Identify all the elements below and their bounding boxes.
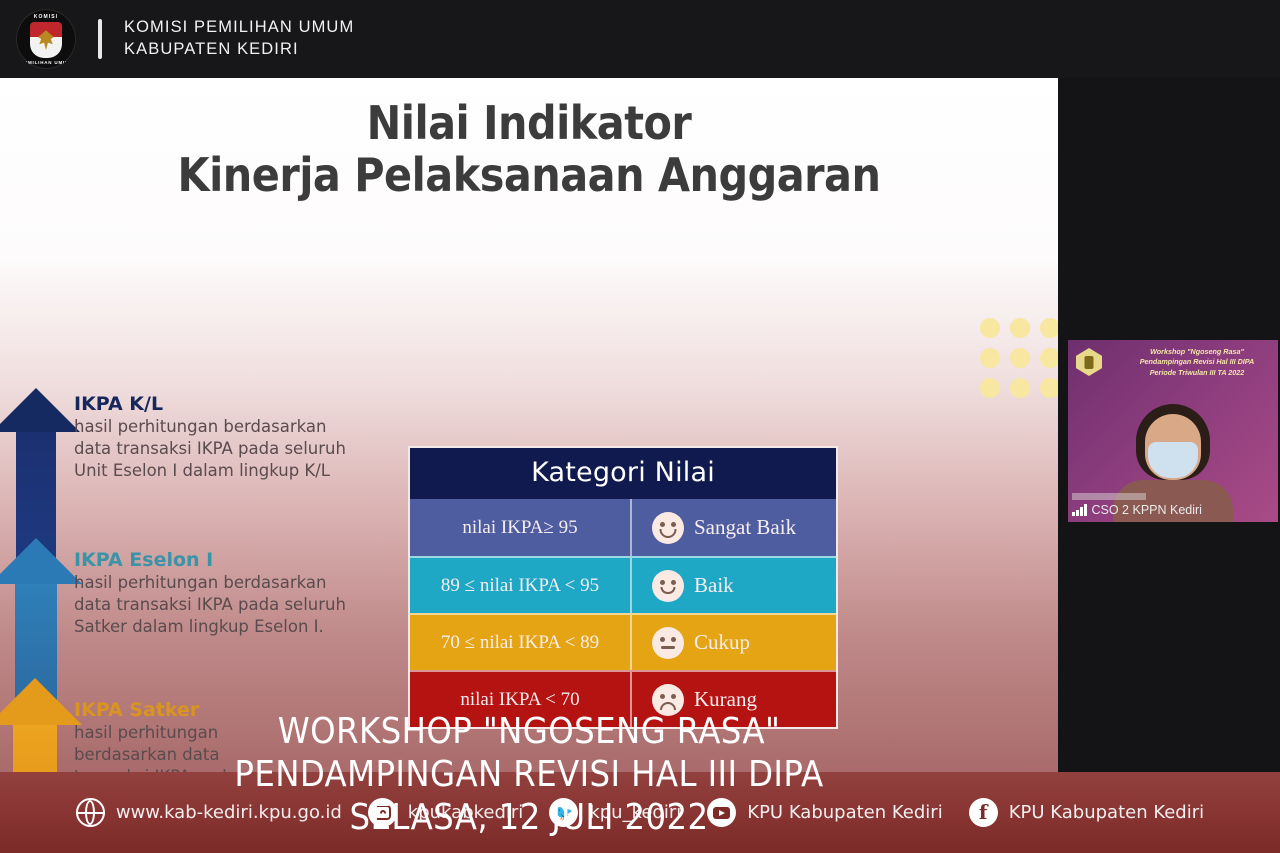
dot <box>980 348 1000 368</box>
dot <box>1010 318 1030 338</box>
video-name-strip <box>1072 493 1146 500</box>
table-cell-label: Cukup <box>694 630 750 655</box>
dot <box>1010 348 1030 368</box>
dot <box>1040 348 1058 368</box>
caption-overlay: WORKSHOP "NGOSENG RASA" PENDAMPINGAN REV… <box>0 710 1058 840</box>
table-cell-label: Baik <box>694 573 734 598</box>
block-body: hasil perhitungan berdasarkan data trans… <box>74 416 364 482</box>
block-heading: IKPA K/L <box>74 394 364 415</box>
slide-title-line1: Nilai Indikator <box>0 98 1058 150</box>
block-body: hasil perhitungan berdasarkan data trans… <box>74 572 364 638</box>
caption-line1: WORKSHOP "NGOSENG RASA" <box>0 710 1058 753</box>
header-title: KOMISI PEMILIHAN UMUM KABUPATEN KEDIRI <box>124 17 354 61</box>
table-header: Kategori Nilai <box>410 448 836 499</box>
block-heading: IKPA Eselon I <box>74 550 364 571</box>
kpu-logo: KOMISI PEMILIHAN UMUM <box>16 9 76 69</box>
table-cell-label-wrap: Sangat Baik <box>632 499 836 556</box>
dot <box>1040 378 1058 398</box>
kpu-logo-shield <box>30 22 62 58</box>
participant-name: CSO 2 KPPN Kediri <box>1092 503 1202 517</box>
arrow-head-icon <box>0 538 82 584</box>
app-header: KOMISI PEMILIHAN UMUM KOMISI PEMILIHAN U… <box>0 0 1280 78</box>
video-overlay-line3: Periode Triwulan III TA 2022 <box>1122 368 1272 378</box>
dot-grid-decoration <box>980 318 1058 398</box>
participant-name-label: CSO 2 KPPN Kediri <box>1072 503 1202 517</box>
table-row: 70 ≤ nilai IKPA < 89 Cukup <box>410 613 836 670</box>
arrow-ikpa-eselon <box>0 538 82 584</box>
logo-wrap: KOMISI PEMILIHAN UMUM <box>16 9 76 69</box>
presentation-slide: Nilai Indikator Kinerja Pelaksanaan Angg… <box>0 78 1058 772</box>
slide-title-line2: Kinerja Pelaksanaan Anggaran <box>0 150 1058 202</box>
header-title-line1: KOMISI PEMILIHAN UMUM <box>124 17 354 39</box>
slide-title: Nilai Indikator Kinerja Pelaksanaan Angg… <box>0 98 1058 201</box>
table-cell-label: Sangat Baik <box>694 515 796 540</box>
table-row: 89 ≤ nilai IKPA < 95 Baik <box>410 556 836 613</box>
neutral-face-icon <box>652 627 684 659</box>
caption-line3: SELASA, 12 JULI 2022 <box>0 796 1058 839</box>
video-overlay-text: Workshop "Ngoseng Rasa" Pendampingan Rev… <box>1122 347 1272 378</box>
kpu-logo-ring-top: KOMISI <box>16 14 76 20</box>
kategori-nilai-table: Kategori Nilai nilai IKPA≥ 95 Sangat Bai… <box>408 446 838 729</box>
video-overlay-line2: Pendampingan Revisi Hal III DIPA <box>1122 357 1272 367</box>
table-row: nilai IKPA≥ 95 Sangat Baik <box>410 499 836 556</box>
arrow-ikpa-kl <box>0 388 80 432</box>
video-overlay-line1: Workshop "Ngoseng Rasa" <box>1122 347 1272 357</box>
table-cell-label: Kurang <box>694 687 757 712</box>
kpu-logo-ring-bottom: PEMILIHAN UMUM <box>16 60 76 65</box>
dot <box>1010 378 1030 398</box>
dot <box>1040 318 1058 338</box>
caption-line2: PENDAMPINGAN REVISI HAL III DIPA <box>0 753 1058 796</box>
header-divider <box>98 19 102 59</box>
table-cell-range: 89 ≤ nilai IKPA < 95 <box>410 558 632 613</box>
happy-face-icon <box>652 512 684 544</box>
table-cell-label-wrap: Baik <box>632 558 836 613</box>
signal-bars-icon <box>1072 504 1087 516</box>
table-cell-range: nilai IKPA≥ 95 <box>410 499 632 556</box>
dot <box>980 378 1000 398</box>
garuda-icon <box>38 30 54 50</box>
arrow-head-icon <box>0 388 80 432</box>
block-ikpa-kl: IKPA K/L hasil perhitungan berdasarkan d… <box>74 394 364 482</box>
table-cell-range: 70 ≤ nilai IKPA < 89 <box>410 615 632 670</box>
smile-face-icon <box>652 570 684 602</box>
video-participant-tile[interactable]: Workshop "Ngoseng Rasa" Pendampingan Rev… <box>1068 340 1278 522</box>
kemenkeu-logo-icon <box>1076 348 1102 376</box>
dot <box>980 318 1000 338</box>
header-title-line2: KABUPATEN KEDIRI <box>124 39 354 61</box>
block-ikpa-eselon: IKPA Eselon I hasil perhitungan berdasar… <box>74 550 364 638</box>
table-cell-label-wrap: Cukup <box>632 615 836 670</box>
